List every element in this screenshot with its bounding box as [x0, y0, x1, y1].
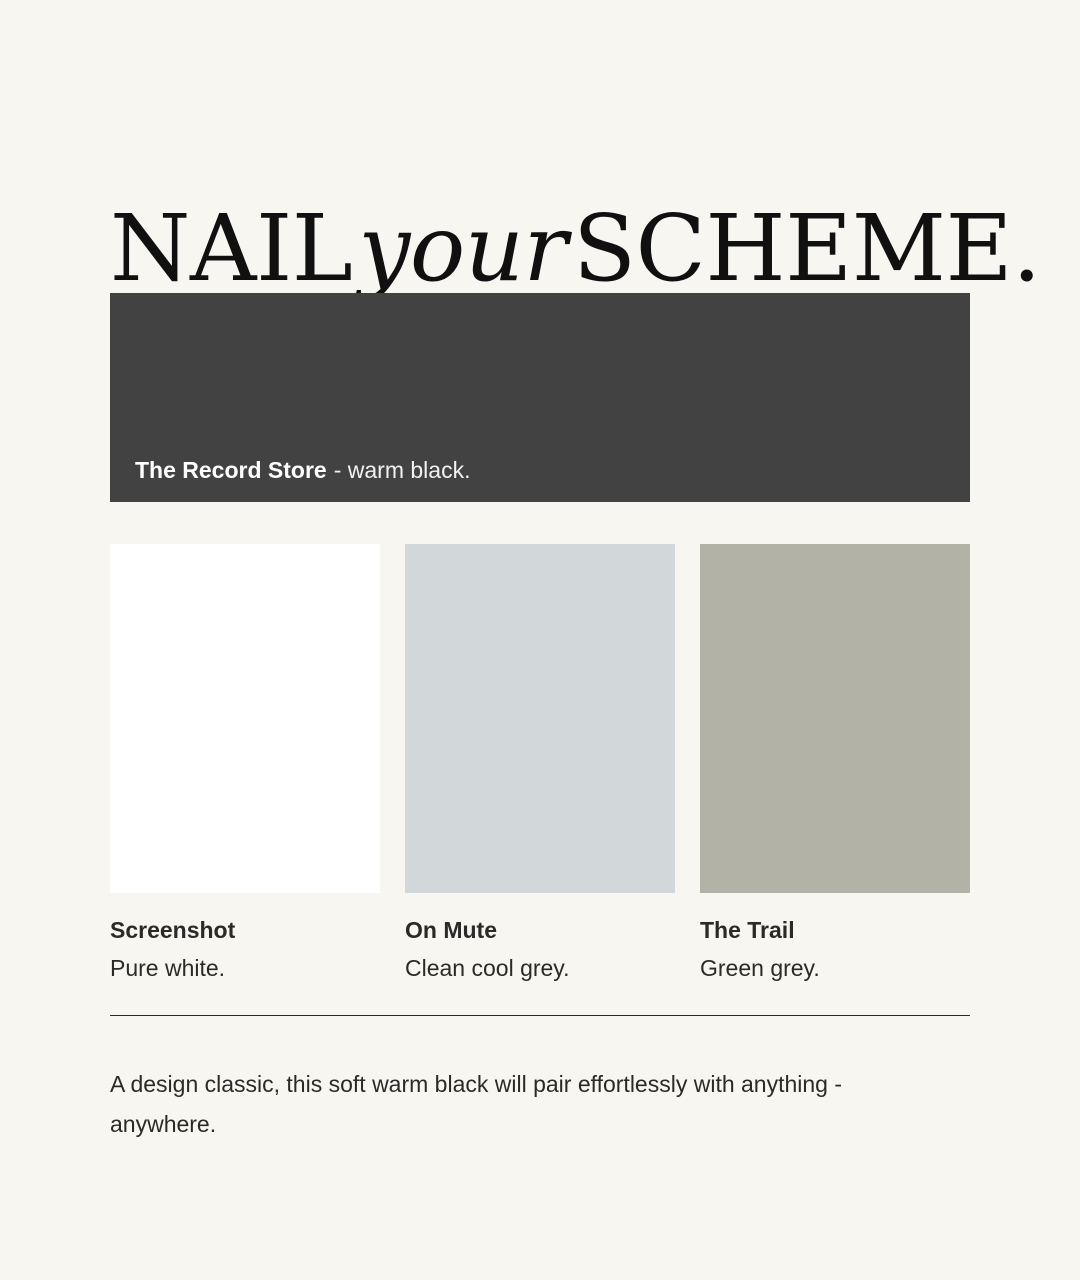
swatch-name-on-mute: On Mute	[405, 917, 675, 945]
swatch-chip-on-mute	[405, 544, 675, 893]
swatch-chip-the-trail	[700, 544, 970, 893]
primary-color-description: - warm black.	[327, 457, 471, 483]
swatch-name-screenshot: Screenshot	[110, 917, 380, 945]
swatch-description-screenshot: Pure white.	[110, 955, 380, 983]
headline-part-two: SCHEME.	[573, 195, 1041, 302]
swatch-description-on-mute: Clean cool grey.	[405, 955, 675, 983]
swatch-item-on-mute: On Mute Clean cool grey.	[405, 544, 675, 982]
footer-copy: A design classic, this soft warm black w…	[110, 1065, 900, 1144]
swatch-item-the-trail: The Trail Green grey.	[700, 544, 970, 982]
swatch-name-the-trail: The Trail	[700, 917, 970, 945]
swatch-list: Screenshot Pure white. On Mute Clean coo…	[110, 544, 970, 982]
primary-color-name: The Record Store	[135, 457, 327, 483]
divider	[110, 1015, 970, 1016]
palette-card: NAILyourSCHEME. The Record Store- warm b…	[0, 0, 1080, 1280]
primary-color-banner: The Record Store- warm black.	[110, 293, 970, 502]
primary-color-label: The Record Store- warm black.	[135, 459, 470, 482]
headline-part-one: NAIL	[110, 195, 352, 302]
page-title: NAILyourSCHEME.	[110, 202, 1010, 295]
swatch-chip-screenshot	[110, 544, 380, 893]
swatch-item-screenshot: Screenshot Pure white.	[110, 544, 380, 982]
headline-emphasis: your	[352, 195, 573, 302]
swatch-description-the-trail: Green grey.	[700, 955, 970, 983]
